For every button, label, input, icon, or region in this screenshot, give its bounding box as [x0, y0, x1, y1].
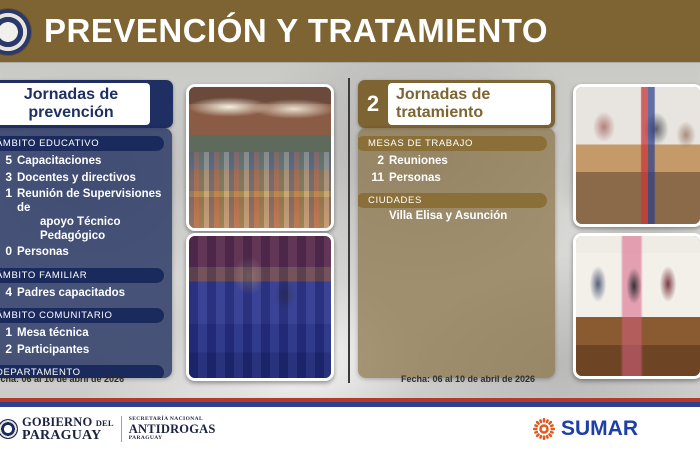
stat-row: 5Capacitaciones — [0, 153, 166, 169]
stat-row: 2Reuniones — [366, 153, 549, 169]
stat-label: Villa Elisa y Asunción — [389, 210, 507, 224]
treatment-badge: 2 — [360, 84, 386, 124]
stat-label: Docentes y directivos — [17, 172, 136, 186]
senad-line2: ANTIDROGAS — [129, 423, 216, 436]
section-heading-pill: ÁMBITO COMUNITARIO — [0, 308, 164, 323]
stat-label: Reuniones — [389, 155, 448, 169]
sumar-wordmark: SUMAR — [561, 417, 638, 441]
stat-number: 5 — [0, 153, 12, 167]
section-heading-text: MESAS DE TRABAJO — [368, 138, 473, 149]
section-heading-pill: CIUDADES — [358, 193, 547, 208]
sumar-logo: SUMAR — [533, 417, 638, 441]
stat-row: 2Participantes — [0, 342, 166, 358]
gobierno-del: DEL — [96, 418, 114, 428]
photo-meeting-table — [573, 84, 700, 227]
section-heading-pill: MESAS DE TRABAJO — [358, 136, 547, 151]
photo-meeting-table-image — [576, 87, 700, 224]
gear-sun-icon — [533, 418, 555, 440]
stat-row: 1Reunión de Supervisiones de — [0, 186, 166, 215]
prevention-date: Fecha: 06 al 10 de abril de 2026 — [0, 374, 180, 384]
stat-number: 1 — [0, 186, 12, 200]
stat-label: Personas — [17, 246, 69, 260]
stat-row: 11Personas — [366, 170, 549, 186]
gobierno-text: GOBIERNO DEL PARAGUAY — [22, 416, 114, 443]
gobierno-word: GOBIERNO — [22, 415, 92, 429]
stat-row: 4Padres capacitados — [0, 285, 166, 301]
stat-row: 3Docentes y directivos — [0, 170, 166, 186]
section-heading-text: ÁMBITO EDUCATIVO — [0, 138, 99, 149]
stat-number: 1 — [0, 325, 12, 339]
stat-number: 3 — [0, 170, 12, 184]
logo-separator — [121, 416, 122, 442]
stat-row: 1Mesa técnica — [0, 325, 166, 341]
treatment-title-inner: Jornadas de tratamiento — [388, 83, 551, 125]
photo-group-standing-image — [576, 236, 700, 376]
photo-auditorium-assembly — [186, 84, 334, 231]
stat-number: 11 — [366, 170, 384, 184]
stat-label: Mesa técnica — [17, 327, 89, 341]
gobierno-line1: GOBIERNO DEL — [22, 416, 114, 429]
stat-label: apoyo Técnico Pedagógico — [40, 216, 166, 243]
stat-label: Capacitaciones — [17, 155, 101, 169]
prevention-badge: 1 — [0, 84, 8, 124]
stat-label: Personas — [389, 172, 441, 186]
treatment-date: Fecha: 06 al 10 de abril de 2026 — [358, 374, 578, 384]
vertical-divider — [348, 78, 350, 383]
stat-label: Padres capacitados — [17, 287, 125, 301]
photo-auditorium-assembly-image — [189, 87, 331, 228]
slide-canvas: PREVENCIÓN Y TRATAMIENTO Jornadas de pre… — [0, 0, 700, 450]
stat-number: 4 — [0, 285, 12, 299]
slide-header: PREVENCIÓN Y TRATAMIENTO — [0, 0, 700, 62]
senad-logo: SECRETARÍA NACIONAL ANTIDROGAS PARAGUAY — [129, 417, 216, 442]
page-title: PREVENCIÓN Y TRATAMIENTO — [0, 0, 548, 62]
prevention-title-text: Jornadas de prevención — [0, 86, 150, 122]
section-heading-text: ÁMBITO FAMILIAR — [0, 270, 87, 281]
stat-row: Villa Elisa y Asunción — [366, 210, 549, 224]
slide-footer: GOBIERNO DEL PARAGUAY SECRETARÍA NACIONA… — [0, 407, 700, 450]
section-heading-pill: ÁMBITO EDUCATIVO — [0, 136, 164, 151]
stat-label: Reunión de Supervisiones de — [17, 188, 166, 215]
prevention-content-panel: ÁMBITO EDUCATIVO5Capacitaciones3Docentes… — [0, 128, 172, 378]
photo-classroom-talk-image — [189, 236, 331, 378]
photo-classroom-talk — [186, 233, 334, 381]
stat-number: 0 — [0, 244, 12, 258]
stat-number: 2 — [0, 342, 12, 356]
paraguay-seal-icon — [0, 419, 18, 439]
treatment-content-panel: MESAS DE TRABAJO2Reuniones11PersonasCIUD… — [358, 128, 555, 378]
treatment-title-card: Jornadas de tratamiento — [358, 80, 555, 128]
gobierno-paraguay-logo: GOBIERNO DEL PARAGUAY SECRETARÍA NACIONA… — [4, 416, 216, 443]
stat-number: 2 — [366, 153, 384, 167]
photo-group-standing — [573, 233, 700, 379]
gobierno-line2: PARAGUAY — [22, 429, 114, 443]
prevention-title-card: Jornadas de prevención — [0, 80, 173, 128]
senad-line3: PARAGUAY — [129, 436, 216, 442]
stat-label: Participantes — [17, 344, 89, 358]
section-heading-text: CIUDADES — [368, 195, 422, 206]
section-heading-text: ÁMBITO COMUNITARIO — [0, 310, 113, 321]
treatment-title-text: Jornadas de tratamiento — [396, 86, 551, 122]
stat-row: 0Personas — [0, 244, 166, 260]
prevention-title-inner: Jornadas de prevención — [0, 83, 150, 125]
section-heading-pill: ÁMBITO FAMILIAR — [0, 268, 164, 283]
stat-row: apoyo Técnico Pedagógico — [0, 216, 166, 243]
